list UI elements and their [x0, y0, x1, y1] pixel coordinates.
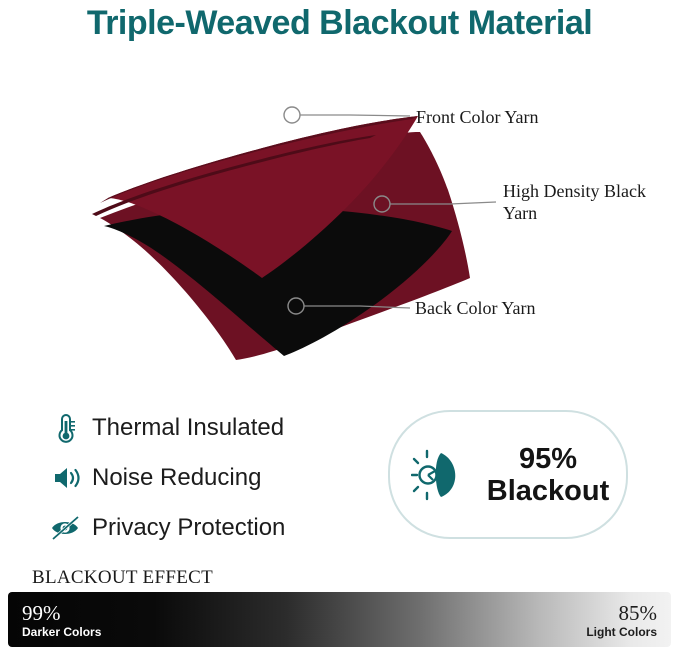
bar-right-stat: 85% Light Colors	[586, 602, 657, 640]
blackout-badge: 95% Blackout	[388, 410, 628, 539]
feature-label: Privacy Protection	[92, 514, 285, 542]
callout-label-high-density: High Density Black Yarn	[503, 180, 653, 224]
bar-right-caption: Light Colors	[586, 625, 657, 640]
feature-noise-reducing: Noise Reducing	[48, 455, 378, 501]
blackout-gradient-bar	[8, 592, 671, 647]
badge-text: 95% Blackout	[478, 443, 618, 507]
bar-right-percent: 85%	[586, 602, 657, 625]
badge-word: Blackout	[487, 475, 609, 507]
callout-line-front	[300, 115, 410, 116]
callout-marker-front	[284, 107, 300, 123]
bar-left-caption: Darker Colors	[22, 625, 101, 640]
thermometer-icon	[48, 412, 84, 444]
callout-label-back: Back Color Yarn	[415, 297, 536, 319]
fabric-layers-diagram: Front Color Yarn High Density Black Yarn…	[0, 70, 679, 360]
product-infographic: Triple-Weaved Blackout Material Front Co…	[0, 0, 679, 655]
eye-slash-icon	[48, 515, 84, 541]
callout-label-front: Front Color Yarn	[416, 106, 539, 128]
bar-left-stat: 99% Darker Colors	[22, 602, 101, 640]
feature-label: Noise Reducing	[92, 464, 261, 492]
feature-privacy-protection: Privacy Protection	[48, 505, 378, 551]
speaker-mute-icon	[48, 464, 84, 492]
page-title: Triple-Weaved Blackout Material	[0, 4, 679, 43]
feature-list: Thermal Insulated Noise Reducing	[48, 405, 378, 555]
bar-left-percent: 99%	[22, 602, 101, 625]
badge-percent: 95%	[519, 443, 577, 475]
feature-label: Thermal Insulated	[92, 414, 284, 442]
sun-blocked-icon	[400, 449, 478, 501]
feature-thermal-insulated: Thermal Insulated	[48, 405, 378, 451]
blackout-effect-heading: BLACKOUT EFFECT	[32, 567, 213, 589]
